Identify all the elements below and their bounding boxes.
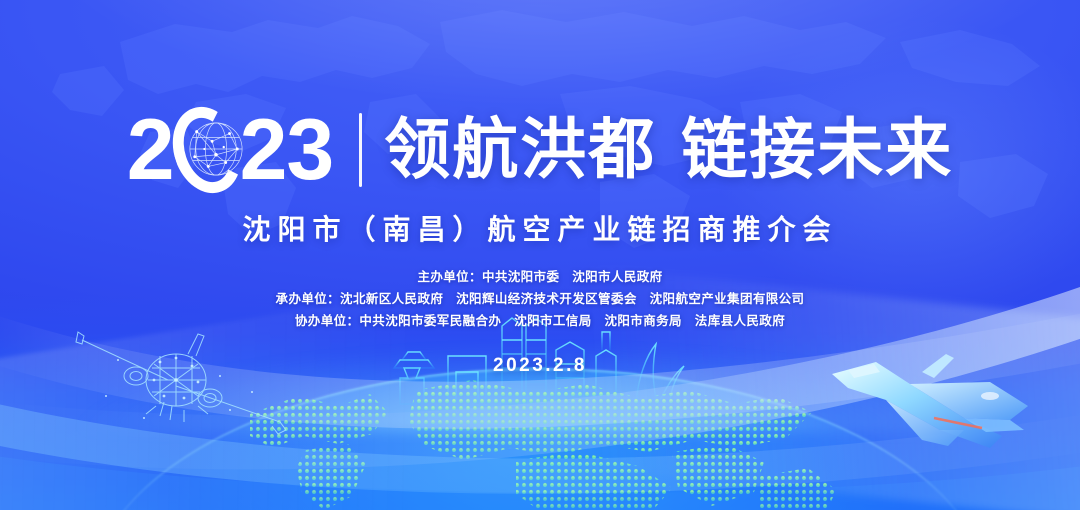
poster-subtitle: 沈阳市（南昌）航空产业链招商推介会 xyxy=(242,208,837,248)
organizer-list: 主办单位：中共沈阳市委 沈阳市人民政府 承办单位：沈北新区人民政府 沈阳辉山经济… xyxy=(276,266,805,329)
event-poster: 2 xyxy=(0,0,1080,510)
poster-headline: 领航洪都 链接未来 xyxy=(384,117,953,183)
organizer-line: 承办单位：沈北新区人民政府 沈阳辉山经济技术开发区管委会 沈阳航空产业集团有限公… xyxy=(276,288,805,307)
title-row: 2 xyxy=(127,104,954,196)
vertical-divider xyxy=(359,113,362,187)
network-globe-icon xyxy=(187,120,245,178)
event-date: 2023.2.8 xyxy=(493,355,587,377)
year-digit-first: 2 xyxy=(127,108,174,192)
year-zero-globe xyxy=(174,104,240,196)
poster-content: 2 xyxy=(0,0,1080,510)
year-digits-last: 23 xyxy=(240,108,334,192)
organizer-line: 协办单位：中共沈阳市委军民融合办 沈阳市工信局 沈阳市商务局 法库县人民政府 xyxy=(295,310,785,329)
year-2023: 2 xyxy=(127,104,334,196)
organizer-line: 主办单位：中共沈阳市委 沈阳市人民政府 xyxy=(417,266,662,285)
